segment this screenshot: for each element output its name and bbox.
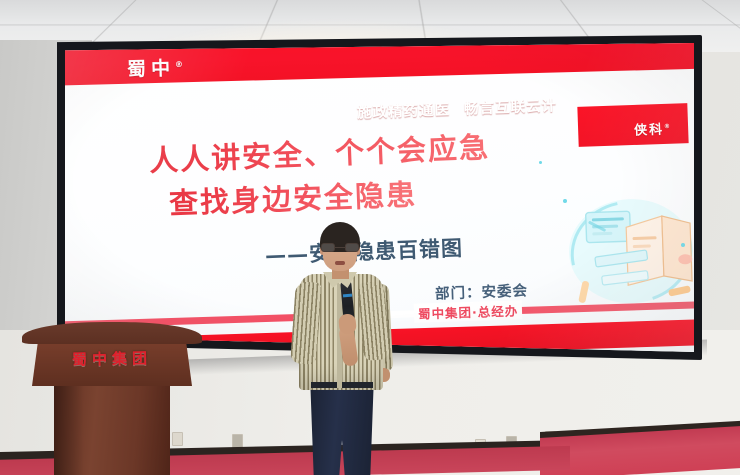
slide-footer-text: 蜀中集团·总经办 — [414, 300, 523, 322]
wall-outlet — [232, 434, 243, 448]
presenter-trousers — [309, 384, 375, 475]
illustration-svg — [563, 191, 694, 312]
slogan-left-text: 施政精药通医 — [357, 102, 451, 121]
sparkle-dot — [539, 161, 542, 164]
podium-shading — [54, 380, 84, 475]
eyeglass-lens — [321, 243, 335, 252]
presenter-belt — [311, 382, 373, 388]
sparkle-dot — [563, 199, 567, 203]
eyeglasses-icon — [321, 243, 359, 252]
podium: 蜀中集团 — [22, 322, 202, 475]
podium-label: 蜀中集团 — [40, 347, 184, 371]
books-documents-illustration — [563, 191, 694, 312]
registered-mark-icon: ® — [664, 123, 670, 130]
slogan-right-text: 畅言互联云计 — [464, 98, 558, 117]
slide-title-line2: 查找身边安全隐患 — [168, 171, 417, 222]
podium-top-surface — [22, 322, 202, 344]
brand-logo-text: 蜀中 — [127, 57, 176, 80]
slide-slogan: 施政精药通医畅言互联云计 — [357, 94, 558, 122]
eyeglass-lens — [345, 243, 359, 252]
eyeglass-bridge — [335, 247, 345, 248]
partner-logo: 侠科® — [634, 118, 671, 138]
presenter — [287, 222, 395, 475]
slide-title-line1: 人人讲安全、个个会应急 — [148, 124, 490, 180]
presenter-mouth — [335, 261, 345, 265]
sparkle-dot — [681, 243, 685, 247]
partner-logo-text: 侠科 — [634, 123, 665, 139]
photo-scene: 蜀中® 施政精药通医畅言互联云计 侠科® — [0, 0, 740, 475]
brand-logo: 蜀中® — [127, 53, 184, 81]
registered-mark-icon: ® — [175, 60, 183, 69]
